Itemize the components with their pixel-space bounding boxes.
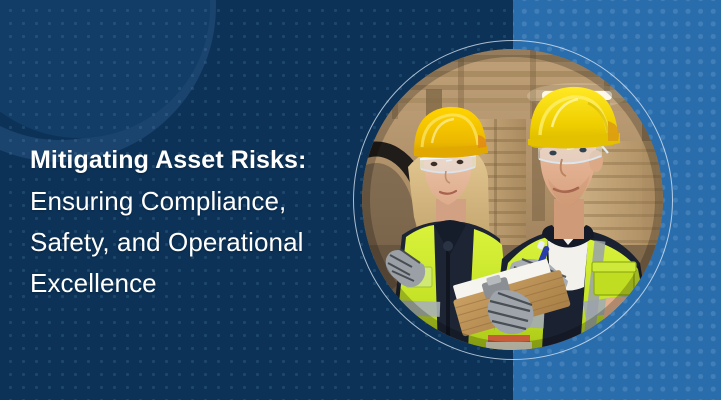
female-eye-right: [457, 160, 464, 164]
headline-line-4: Excellence: [30, 263, 360, 304]
marketing-banner: Mitigating Asset Risks: Ensuring Complia…: [0, 0, 721, 400]
worker-photo: [362, 49, 663, 350]
headline-line-2: Ensuring Compliance,: [30, 181, 360, 222]
female-collar-button: [443, 241, 453, 251]
photo-scene: [362, 49, 663, 350]
male-eye-left: [549, 151, 556, 156]
headline-block: Mitigating Asset Risks: Ensuring Complia…: [30, 140, 360, 304]
male-eye-right: [579, 148, 586, 153]
male-vest-pocket-flap: [592, 262, 636, 272]
headline-line-3: Safety, and Operational: [30, 222, 360, 263]
worker-photo-illustration: [362, 49, 663, 350]
headline-line-1: Mitigating Asset Risks:: [30, 140, 360, 181]
female-eye-left: [431, 162, 438, 166]
